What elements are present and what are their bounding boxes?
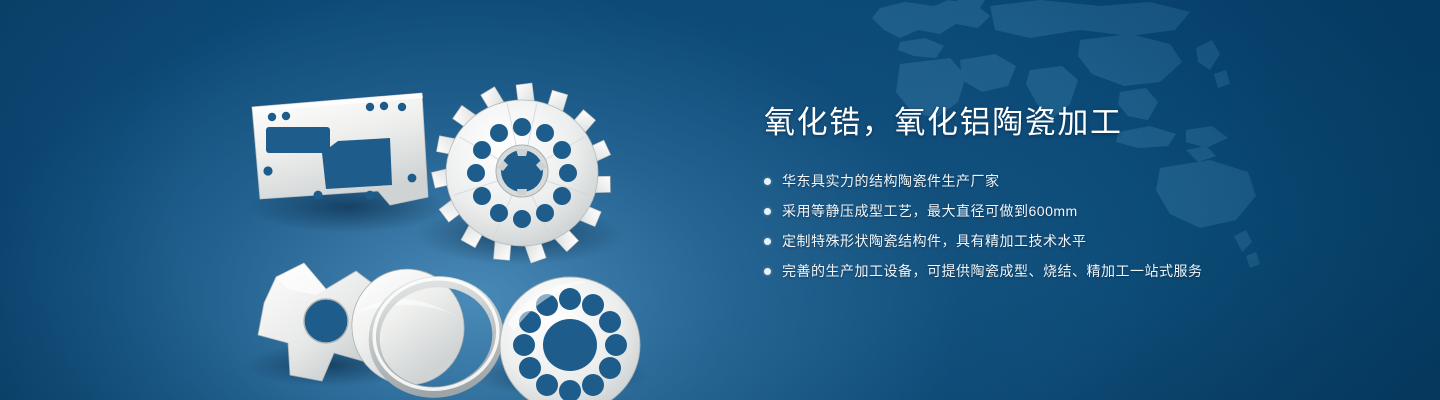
page-title: 氧化锆，氧化铝陶瓷加工: [764, 104, 1384, 143]
promo-banner: 氧化锆，氧化铝陶瓷加工 华东具实力的结构陶瓷件生产厂家 采用等静压成型工艺，最大…: [0, 0, 1440, 400]
bullet-dot-icon: [764, 268, 771, 275]
list-item: 定制特殊形状陶瓷结构件，具有精加工技术水平: [764, 231, 1384, 252]
bullet-dot-icon: [764, 178, 771, 185]
ceramic-perforated-disc: [500, 277, 640, 400]
ceramic-products-image: [230, 45, 710, 385]
feature-text: 采用等静压成型工艺，最大直径可做到600mm: [782, 201, 1078, 222]
ceramic-plate: [252, 93, 428, 205]
list-item: 华东具实力的结构陶瓷件生产厂家: [764, 171, 1384, 192]
feature-list: 华东具实力的结构陶瓷件生产厂家 采用等静压成型工艺，最大直径可做到600mm 定…: [764, 171, 1384, 282]
bullet-dot-icon: [764, 208, 771, 215]
feature-text: 华东具实力的结构陶瓷件生产厂家: [782, 171, 1000, 192]
feature-text: 定制特殊形状陶瓷结构件，具有精加工技术水平: [782, 231, 1087, 252]
bullet-dot-icon: [764, 238, 771, 245]
list-item: 完善的生产加工设备，可提供陶瓷成型、烧结、精加工一站式服务: [764, 261, 1384, 282]
banner-copy: 氧化锆，氧化铝陶瓷加工 华东具实力的结构陶瓷件生产厂家 采用等静压成型工艺，最大…: [764, 104, 1384, 291]
list-item: 采用等静压成型工艺，最大直径可做到600mm: [764, 201, 1384, 222]
feature-text: 完善的生产加工设备，可提供陶瓷成型、烧结、精加工一站式服务: [782, 261, 1203, 282]
